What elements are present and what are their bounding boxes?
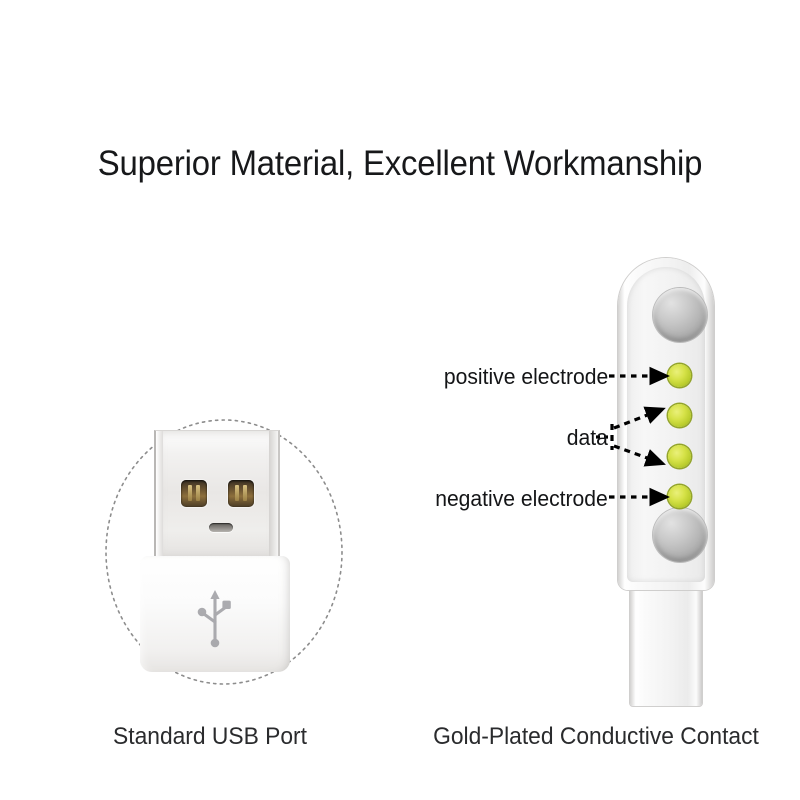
usb-metal-shell [154, 430, 280, 559]
connector-cable-stem [630, 584, 702, 706]
usb-shell-notch [209, 523, 233, 532]
gold-contact-2 [668, 404, 691, 427]
usb-logo-icon [194, 588, 236, 650]
usb-port-illustration [104, 418, 344, 686]
magnet-recess-bottom [653, 508, 707, 562]
annotation-label-negative-electrode: negative electrode [435, 486, 608, 512]
gold-contact-1 [668, 364, 691, 387]
product-infographic: Superior Material, Excellent Workmanship [0, 0, 800, 800]
caption-gold-plated-contact: Gold-Plated Conductive Contact [402, 722, 790, 752]
gold-contact-4 [668, 485, 691, 508]
page-title: Superior Material, Excellent Workmanship [24, 142, 776, 186]
annotation-label-data: data [567, 425, 608, 451]
magnet-recess-top [653, 288, 707, 342]
annotation-label-positive-electrode: positive electrode [444, 364, 608, 390]
usb-plastic-body [140, 556, 290, 672]
connector-head [618, 258, 714, 590]
caption-standard-usb-port: Standard USB Port [11, 722, 410, 752]
usb-contact-slot-right [228, 480, 254, 507]
usb-a-connector-photo [140, 430, 306, 672]
magnetic-connector-illustration [604, 258, 756, 706]
usb-contact-slot-left [181, 480, 207, 507]
gold-contact-3 [668, 445, 691, 468]
